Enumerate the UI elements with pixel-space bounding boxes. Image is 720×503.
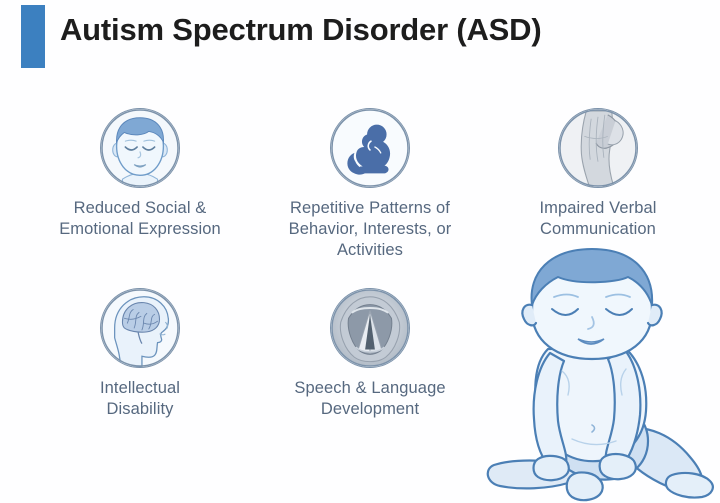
seated-baby-illustration (476, 243, 720, 503)
feature-label: Reduced Social & Emotional Expression (20, 198, 260, 240)
title-accent-bar (21, 5, 45, 68)
throat-anatomy-icon (558, 108, 638, 188)
feature-card-speech-language-development: Speech & Language Development (250, 288, 490, 420)
feature-label: Intellectual Disability (20, 378, 260, 420)
feature-card-reduced-social-emotional-expression: Reduced Social & Emotional Expression (20, 108, 260, 240)
vocal-cords-larynx-icon (330, 288, 410, 368)
feature-card-impaired-verbal-communication: Impaired Verbal Communication (478, 108, 718, 240)
page-title: Autism Spectrum Disorder (ASD) (60, 12, 541, 48)
header: Autism Spectrum Disorder (ASD) (0, 0, 720, 82)
head-profile-brain-icon (100, 288, 180, 368)
person-curled-up-icon (330, 108, 410, 188)
feature-label: Speech & Language Development (250, 378, 490, 420)
child-face-closed-eyes-icon (100, 108, 180, 188)
feature-label: Repetitive Patterns of Behavior, Interes… (250, 198, 490, 261)
feature-card-intellectual-disability: Intellectual Disability (20, 288, 260, 420)
feature-card-repetitive-patterns: Repetitive Patterns of Behavior, Interes… (250, 108, 490, 261)
feature-label: Impaired Verbal Communication (478, 198, 718, 240)
